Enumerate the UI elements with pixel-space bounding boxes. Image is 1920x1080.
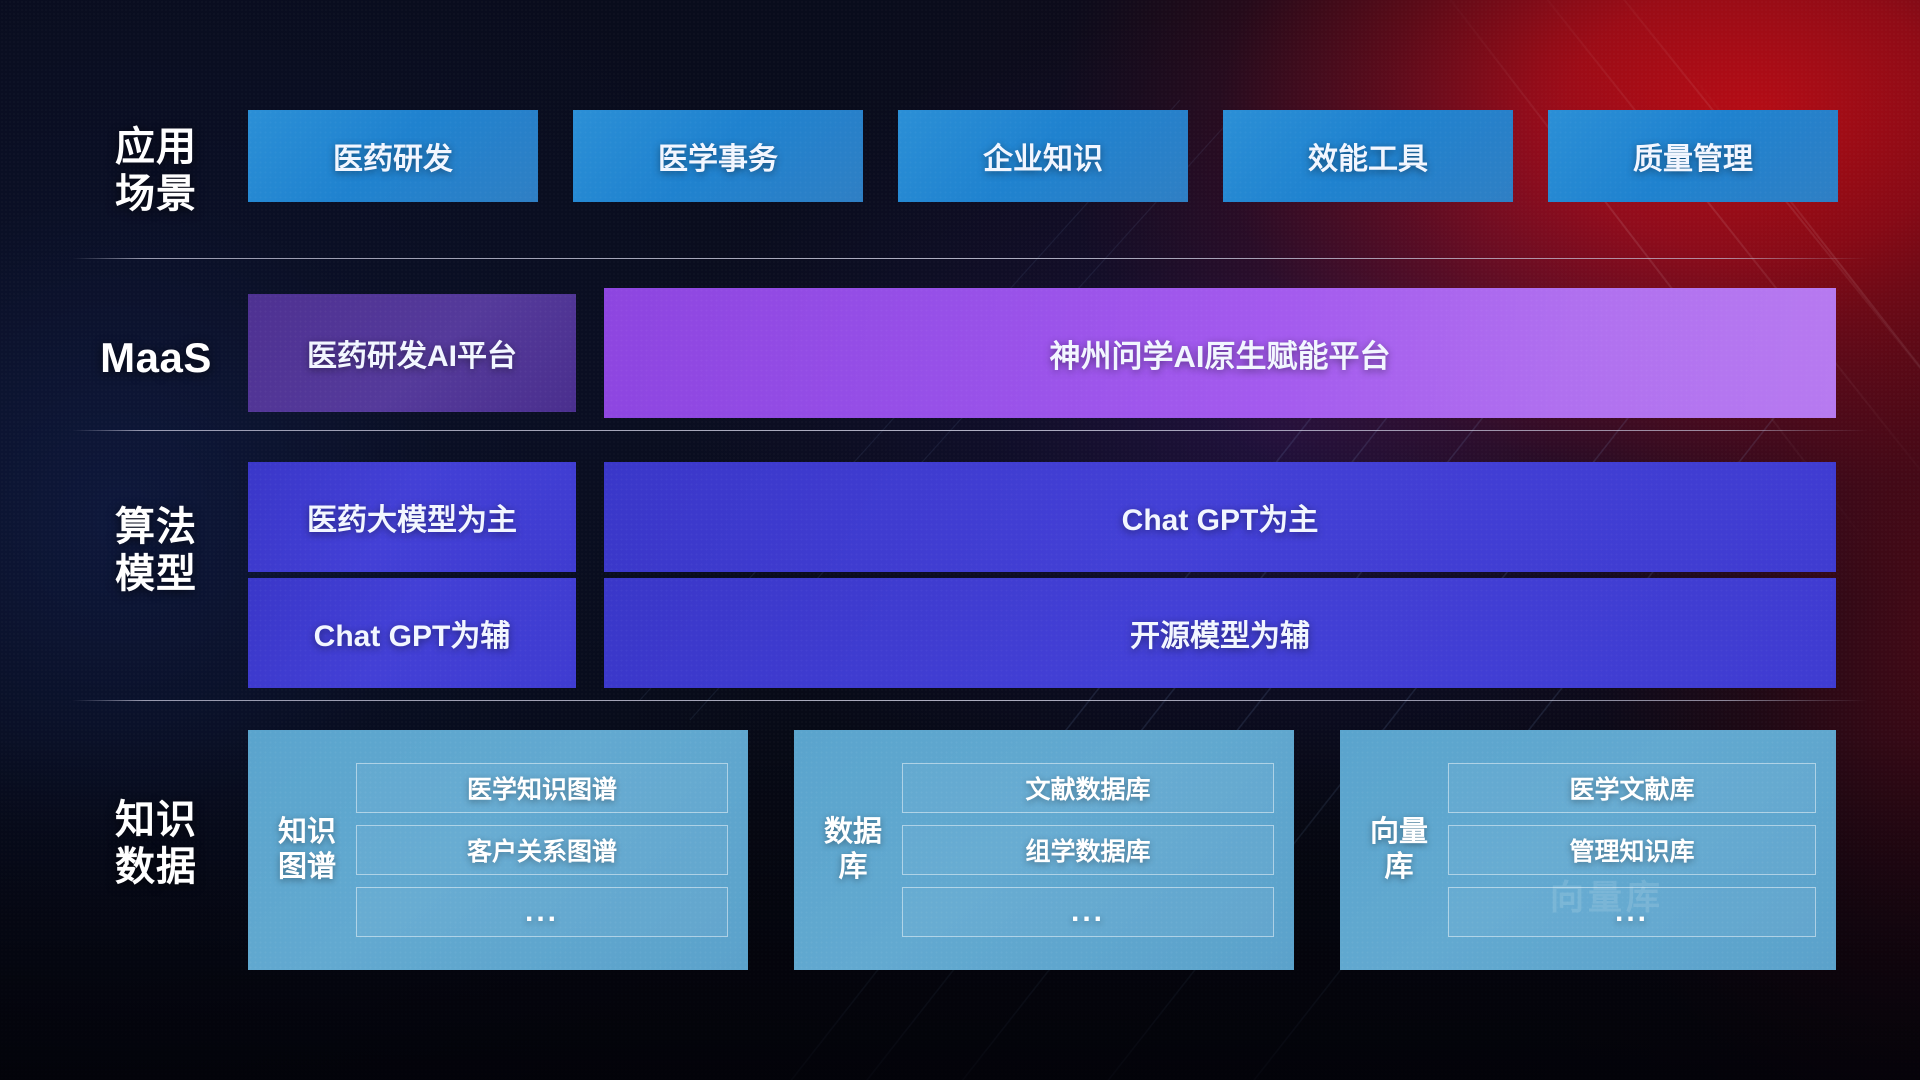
knowledge-item-1-0[interactable]: 文献数据库 [902, 763, 1274, 813]
knowledge-panel-title-2: 向量库 [1362, 815, 1436, 886]
knowledge-panel-items-1: 文献数据库 组学数据库 ... [890, 763, 1294, 937]
app-box-label-4: 质量管理 [1633, 134, 1753, 178]
knowledge-panel-0[interactable]: 知识图谱 医学知识图谱 客户关系图谱 ... [248, 730, 748, 970]
app-box-label-2: 企业知识 [983, 134, 1103, 178]
slide-canvas: 应用 场景 医药研发 医学事务 企业知识 效能工具 质量管理 MaaS 医药研发… [0, 0, 1920, 1080]
knowledge-item-label-0-1: 客户关系图谱 [467, 832, 617, 868]
knowledge-item-label-1-2: ... [1071, 895, 1105, 929]
row-label-application-scenario: 应用 场景 [72, 124, 240, 218]
app-box-1[interactable]: 医学事务 [573, 110, 863, 202]
knowledge-item-1-1[interactable]: 组学数据库 [902, 825, 1274, 875]
knowledge-item-0-0[interactable]: 医学知识图谱 [356, 763, 728, 813]
algo-box-right-label-1: 开源模型为辅 [1130, 611, 1310, 655]
knowledge-panel-items-2: 医学文献库 管理知识库 ... [1436, 763, 1836, 937]
knowledge-panel-1[interactable]: 数据库 文献数据库 组学数据库 ... [794, 730, 1294, 970]
maas-box-left-label: 医药研发AI平台 [307, 331, 517, 375]
row-label-maas: MaaS [72, 333, 240, 383]
row-label-line-1: 算法 [72, 504, 240, 551]
app-box-4[interactable]: 质量管理 [1548, 110, 1838, 202]
app-box-3[interactable]: 效能工具 [1223, 110, 1513, 202]
app-box-label-1: 医学事务 [658, 134, 778, 178]
maas-box-left[interactable]: 医药研发AI平台 [248, 294, 576, 412]
algo-box-right-label-0: Chat GPT为主 [1122, 495, 1319, 539]
row-label-line-2: 场景 [72, 171, 240, 218]
divider-3 [72, 700, 1868, 701]
algo-box-right-0[interactable]: Chat GPT为主 [604, 462, 1836, 572]
row-label-line-2: 模型 [72, 551, 240, 598]
knowledge-item-label-2-1: 管理知识库 [1569, 832, 1694, 868]
knowledge-item-label-0-2: ... [525, 895, 559, 929]
knowledge-item-1-2[interactable]: ... [902, 887, 1274, 937]
row-label-line-1: 知识 [72, 797, 240, 844]
maas-box-right[interactable]: 神州问学AI原生赋能平台 [604, 288, 1836, 418]
row-label-maas-text: MaaS [72, 333, 240, 383]
knowledge-panel-2[interactable]: 向量库 向量库 医学文献库 管理知识库 ... [1340, 730, 1836, 970]
divider-2 [72, 430, 1868, 431]
algo-box-left-0[interactable]: 医药大模型为主 [248, 462, 576, 572]
row-label-line-1: 应用 [72, 124, 240, 171]
row-label-line-2: 数据 [72, 844, 240, 891]
algo-box-left-label-1: Chat GPT为辅 [314, 611, 511, 655]
app-box-label-3: 效能工具 [1308, 134, 1428, 178]
app-box-label-0: 医药研发 [333, 134, 453, 178]
knowledge-item-label-0-0: 医学知识图谱 [467, 770, 617, 806]
knowledge-item-0-1[interactable]: 客户关系图谱 [356, 825, 728, 875]
knowledge-panel-title-1: 数据库 [816, 815, 890, 886]
knowledge-item-label-2-0: 医学文献库 [1569, 770, 1694, 806]
app-box-2[interactable]: 企业知识 [898, 110, 1188, 202]
knowledge-item-label-1-1: 组学数据库 [1025, 832, 1150, 868]
algo-box-right-1[interactable]: 开源模型为辅 [604, 578, 1836, 688]
knowledge-item-2-0[interactable]: 医学文献库 [1448, 763, 1816, 813]
knowledge-item-label-2-2: ... [1615, 895, 1649, 929]
algo-box-left-1[interactable]: Chat GPT为辅 [248, 578, 576, 688]
divider-1 [72, 258, 1868, 259]
algo-box-left-label-0: 医药大模型为主 [307, 495, 517, 539]
row-label-algorithm-model: 算法 模型 [72, 504, 240, 598]
knowledge-item-label-1-0: 文献数据库 [1025, 770, 1150, 806]
knowledge-panel-items-0: 医学知识图谱 客户关系图谱 ... [344, 763, 748, 937]
knowledge-item-0-2[interactable]: ... [356, 887, 728, 937]
knowledge-item-2-2[interactable]: ... [1448, 887, 1816, 937]
maas-box-right-label: 神州问学AI原生赋能平台 [1050, 331, 1391, 376]
knowledge-item-2-1[interactable]: 管理知识库 [1448, 825, 1816, 875]
knowledge-panel-title-0: 知识图谱 [270, 815, 344, 886]
app-box-0[interactable]: 医药研发 [248, 110, 538, 202]
row-label-knowledge-data: 知识 数据 [72, 797, 240, 891]
